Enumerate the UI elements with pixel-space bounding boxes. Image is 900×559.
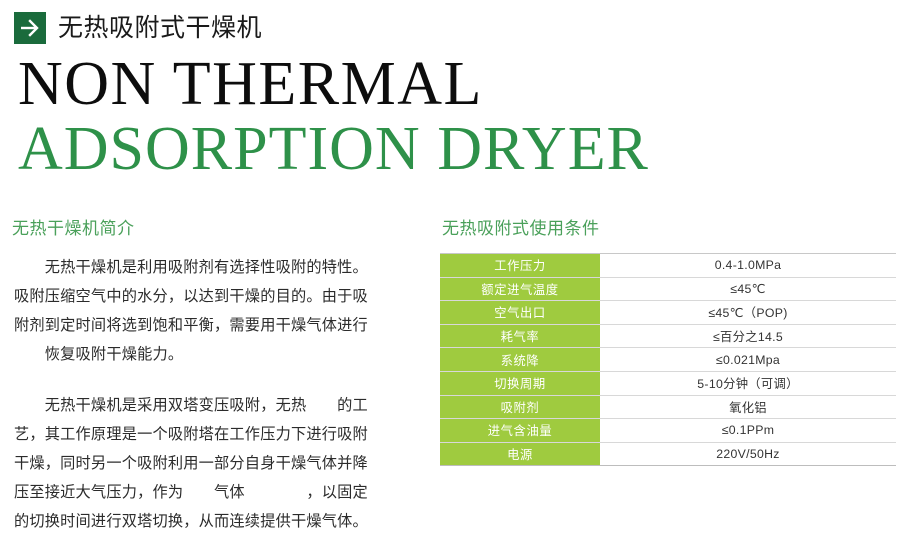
table-row: 进气含油量 ≤0.1PPm — [440, 419, 896, 443]
spec-key: 系统降 — [440, 348, 600, 372]
arrow-right-icon — [14, 12, 46, 44]
paragraph-line: 的切换时间进行双塔切换，从而连续提供干燥气体。 — [14, 507, 416, 536]
specs-table-body: 工作压力 0.4-1.0MPa 额定进气温度 ≤45℃ 空气出口 ≤45℃（PO… — [440, 254, 896, 466]
spec-key: 空气出口 — [440, 301, 600, 325]
hero-banner: NON THERMAL ADSORPTION DRYER — [18, 54, 888, 180]
table-row: 电源 220V/50Hz — [440, 442, 896, 466]
intro-paragraph-1: 无热干燥机是利用吸附剂有选择性吸附的特性。 吸附压缩空气中的水分，以达到干燥的目… — [0, 253, 430, 369]
table-row: 系统降 ≤0.021Mpa — [440, 348, 896, 372]
table-row: 切换周期 5-10分钟（可调） — [440, 371, 896, 395]
hero-title-secondary: ADSORPTION DRYER — [18, 119, 888, 180]
specs-heading: 无热吸附式使用条件 — [442, 214, 900, 239]
paragraph-line: 恢复吸附干燥能力。 — [14, 340, 416, 369]
spec-value: ≤0.021Mpa — [600, 348, 896, 372]
paragraph-line: 吸附压缩空气中的水分，以达到干燥的目的。由于吸 — [14, 282, 416, 311]
spec-key: 额定进气温度 — [440, 277, 600, 301]
spec-key: 进气含油量 — [440, 419, 600, 443]
spec-value: 5-10分钟（可调） — [600, 371, 896, 395]
specs-table: 工作压力 0.4-1.0MPa 额定进气温度 ≤45℃ 空气出口 ≤45℃（PO… — [440, 253, 896, 466]
spec-key: 切换周期 — [440, 371, 600, 395]
specs-column: 无热吸附式使用条件 工作压力 0.4-1.0MPa 额定进气温度 ≤45℃ 空气… — [435, 214, 900, 466]
spec-value: ≤百分之14.5 — [600, 324, 896, 348]
paragraph-line: 压至接近大气压力，作为 气体 ，以固定 — [14, 478, 416, 507]
paragraph-line: 附剂到定时间将选到饱和平衡，需要用干燥气体进行 — [14, 311, 416, 340]
intro-column: 无热干燥机简介 无热干燥机是利用吸附剂有选择性吸附的特性。 吸附压缩空气中的水分… — [0, 214, 430, 536]
spec-key: 电源 — [440, 442, 600, 466]
paragraph-line: 无热干燥机是采用双塔变压吸附，无热 的工 — [14, 391, 416, 420]
spec-value: 0.4-1.0MPa — [600, 254, 896, 278]
paragraph-line: 艺，其工作原理是一个吸附塔在工作压力下进行吸附 — [14, 420, 416, 449]
page-kicker-title: 无热吸附式干燥机 — [58, 16, 262, 41]
paragraph-line: 干燥，同时另一个吸附利用一部分自身干燥气体并降 — [14, 449, 416, 478]
table-row: 耗气率 ≤百分之14.5 — [440, 324, 896, 348]
intro-paragraph-2: 无热干燥机是采用双塔变压吸附，无热 的工 艺，其工作原理是一个吸附塔在工作压力下… — [0, 391, 430, 536]
table-row: 空气出口 ≤45℃（POP) — [440, 301, 896, 325]
paragraph-line: 无热干燥机是利用吸附剂有选择性吸附的特性。 — [14, 253, 416, 282]
table-row: 工作压力 0.4-1.0MPa — [440, 254, 896, 278]
intro-heading: 无热干燥机简介 — [12, 214, 430, 239]
spec-value: 氧化铝 — [600, 395, 896, 419]
spec-key: 吸附剂 — [440, 395, 600, 419]
page-kicker: 无热吸附式干燥机 — [14, 12, 262, 44]
table-row: 额定进气温度 ≤45℃ — [440, 277, 896, 301]
table-row: 吸附剂 氧化铝 — [440, 395, 896, 419]
spec-value: ≤45℃ — [600, 277, 896, 301]
spec-value: 220V/50Hz — [600, 442, 896, 466]
spec-value: ≤45℃（POP) — [600, 301, 896, 325]
spec-key: 耗气率 — [440, 324, 600, 348]
spec-key: 工作压力 — [440, 254, 600, 278]
hero-title-primary: NON THERMAL — [18, 54, 888, 115]
spec-value: ≤0.1PPm — [600, 419, 896, 443]
